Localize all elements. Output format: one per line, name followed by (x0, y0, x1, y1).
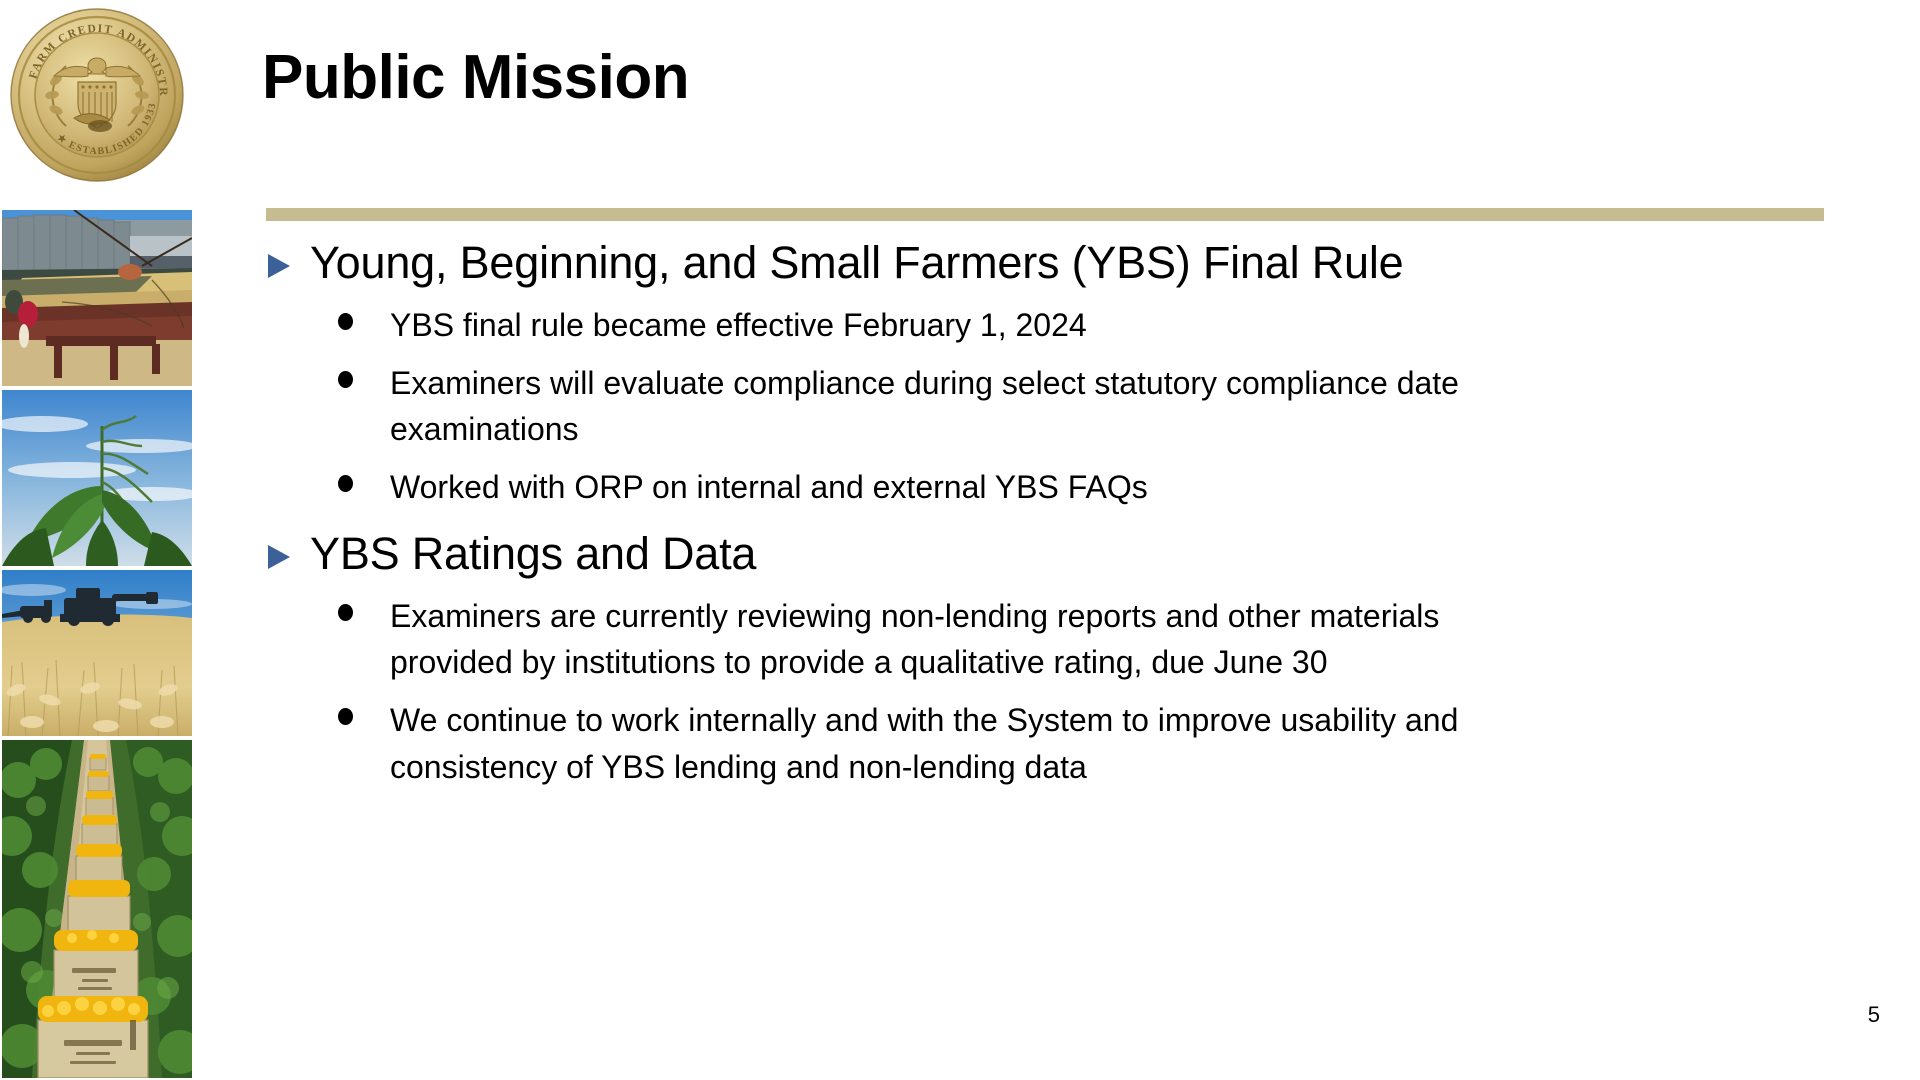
dot-bullet-icon (338, 593, 354, 621)
bullet-level1: Young, Beginning, and Small Farmers (YBS… (266, 236, 1866, 291)
bullet-level2: YBS final rule became effective February… (266, 302, 1866, 349)
seal-icon: FARM CREDIT ADMINISTRATION ★ ESTABLISHED… (8, 6, 186, 184)
page-title: Public Mission (262, 44, 689, 112)
bullet-level2-label: YBS final rule became effective February… (390, 302, 1087, 349)
title-divider (266, 208, 1824, 221)
bullet-level2: We continue to work internally and with … (266, 697, 1866, 790)
bullet-level2: Worked with ORP on internal and external… (266, 464, 1866, 511)
bullet-level2-label: We continue to work internally and with … (390, 697, 1520, 790)
wheat-combine-photo (0, 568, 194, 738)
bullet-level2: Examiners are currently reviewing non-le… (266, 593, 1866, 686)
bullet-level1-label: YBS Ratings and Data (310, 527, 756, 582)
bullet-level2-label: Examiners will evaluate compliance durin… (390, 360, 1520, 453)
corn-stalk-photo (0, 388, 194, 568)
dot-bullet-icon (338, 302, 354, 330)
bullet-level2-label: Examiners are currently reviewing non-le… (390, 593, 1520, 686)
triangle-bullet-icon (266, 236, 292, 280)
dot-bullet-icon (338, 360, 354, 388)
dot-bullet-icon (338, 697, 354, 725)
triangle-bullet-icon (266, 527, 292, 571)
dot-bullet-icon (338, 464, 354, 492)
farm-credit-administration-seal: FARM CREDIT ADMINISTRATION ★ ESTABLISHED… (8, 6, 186, 184)
citrus-crates-photo (0, 738, 194, 1080)
page-number: 5 (1868, 1002, 1880, 1028)
left-rail: FARM CREDIT ADMINISTRATION ★ ESTABLISHED… (0, 0, 196, 1080)
photo-strip (0, 208, 194, 1080)
bullet-level2: Examiners will evaluate compliance durin… (266, 360, 1866, 453)
bullet-level1: YBS Ratings and Data (266, 527, 1866, 582)
bullet-level1-label: Young, Beginning, and Small Farmers (YBS… (310, 236, 1403, 291)
bullet-level2-label: Worked with ORP on internal and external… (390, 464, 1148, 511)
grain-truck-loading-photo (0, 208, 194, 388)
slide-body: Young, Beginning, and Small Farmers (YBS… (266, 236, 1866, 791)
